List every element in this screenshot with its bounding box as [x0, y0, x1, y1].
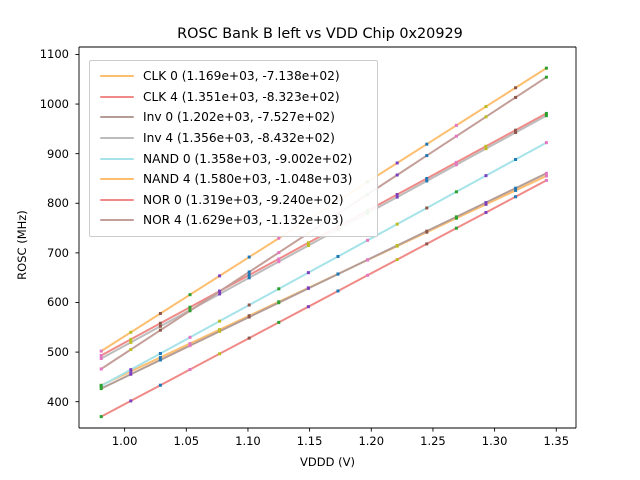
x-tick-label: 1.35 [526, 434, 586, 448]
data-point-marker [307, 244, 310, 247]
data-point-marker [455, 135, 458, 138]
data-point-marker [366, 274, 369, 277]
y-tick-label: 800 [27, 196, 69, 210]
data-point-marker [277, 260, 280, 263]
data-point-marker [188, 309, 191, 312]
data-point-marker [514, 158, 517, 161]
data-point-marker [248, 256, 251, 259]
data-point-marker [100, 387, 103, 390]
data-point-marker [277, 237, 280, 240]
legend-color-swatch [100, 96, 134, 98]
legend-item[interactable]: NOR 0 (1.319e+03, -9.240e+02) [96, 190, 371, 211]
data-point-marker [396, 223, 399, 226]
data-point-marker [100, 415, 103, 418]
legend-item[interactable]: CLK 0 (1.169e+03, -7.138e+02) [96, 66, 371, 87]
data-point-marker [366, 258, 369, 261]
legend-item[interactable]: Inv 4 (1.356e+03, -8.432e+02) [96, 128, 371, 149]
data-point-marker [248, 274, 251, 277]
data-point-marker [545, 179, 548, 182]
data-point-marker [484, 147, 487, 150]
data-point-marker [188, 368, 191, 371]
data-point-marker [248, 337, 251, 340]
y-tick-label: 600 [27, 295, 69, 309]
data-point-marker [514, 86, 517, 89]
legend-color-swatch [100, 199, 134, 201]
legend-color-swatch [100, 137, 134, 139]
legend-item-label: NAND 4 (1.580e+03, -1.048e+03) [143, 173, 352, 185]
data-point-marker [188, 336, 191, 339]
data-point-marker [129, 373, 132, 376]
data-point-marker [218, 330, 221, 333]
data-point-marker [129, 338, 132, 341]
y-tick-label: 700 [27, 246, 69, 260]
data-point-marker [484, 174, 487, 177]
data-point-marker [336, 273, 339, 276]
data-point-marker [425, 179, 428, 182]
data-point-marker [545, 141, 548, 144]
data-point-marker [455, 124, 458, 127]
data-point-marker [396, 196, 399, 199]
data-point-marker [396, 173, 399, 176]
data-point-marker [336, 255, 339, 258]
x-tick-label: 1.05 [156, 434, 216, 448]
legend-color-swatch [100, 219, 134, 221]
legend-color-swatch [100, 116, 134, 118]
data-point-marker [129, 399, 132, 402]
data-point-marker [545, 114, 548, 117]
data-point-marker [396, 161, 399, 164]
data-point-marker [188, 344, 191, 347]
data-point-marker [218, 352, 221, 355]
legend-color-swatch [100, 178, 134, 180]
data-point-marker [425, 206, 428, 209]
data-point-marker [455, 215, 458, 218]
data-point-marker [396, 244, 399, 247]
data-point-marker [455, 227, 458, 230]
data-point-marker [277, 251, 280, 254]
data-point-marker [396, 258, 399, 261]
data-point-marker [277, 301, 280, 304]
data-point-marker [545, 172, 548, 175]
legend-item-label: Inv 4 (1.356e+03, -8.432e+02) [143, 132, 335, 144]
data-point-marker [484, 201, 487, 204]
data-point-marker [545, 76, 548, 79]
data-point-marker [159, 384, 162, 387]
data-point-marker [188, 306, 191, 309]
data-point-marker [218, 274, 221, 277]
y-tick-label: 900 [27, 147, 69, 161]
legend-item[interactable]: Inv 0 (1.202e+03, -7.527e+02) [96, 107, 371, 128]
y-tick-label: 500 [27, 345, 69, 359]
data-point-marker [159, 329, 162, 332]
data-point-marker [514, 96, 517, 99]
legend-item-label: NOR 0 (1.319e+03, -9.240e+02) [143, 194, 344, 206]
x-tick-label: 1.25 [403, 434, 463, 448]
data-point-marker [159, 325, 162, 328]
legend-item-label: NAND 0 (1.358e+03, -9.002e+02) [143, 153, 352, 165]
x-tick-label: 1.30 [465, 434, 525, 448]
data-point-marker [514, 131, 517, 134]
chart-legend: CLK 0 (1.169e+03, -7.138e+02)CLK 4 (1.35… [89, 60, 378, 237]
data-point-marker [425, 154, 428, 157]
legend-item[interactable]: NAND 4 (1.580e+03, -1.048e+03) [96, 169, 371, 190]
data-point-marker [100, 350, 103, 353]
data-point-marker [159, 352, 162, 355]
legend-color-swatch [100, 158, 134, 160]
data-point-marker [484, 115, 487, 118]
data-point-marker [100, 357, 103, 360]
x-tick-label: 1.20 [341, 434, 401, 448]
data-point-marker [188, 293, 191, 296]
data-point-marker [307, 287, 310, 290]
data-point-marker [545, 67, 548, 70]
data-point-marker [484, 105, 487, 108]
data-point-marker [336, 289, 339, 292]
data-point-marker [100, 354, 103, 357]
legend-item-label: CLK 4 (1.351e+03, -8.323e+02) [143, 91, 340, 103]
x-tick-label: 1.15 [280, 434, 340, 448]
y-tick-label: 1100 [27, 47, 69, 61]
data-point-marker [218, 320, 221, 323]
data-point-marker [129, 341, 132, 344]
x-tick-label: 1.00 [95, 434, 155, 448]
data-point-marker [159, 312, 162, 315]
data-point-marker [100, 367, 103, 370]
y-tick-label: 400 [27, 395, 69, 409]
data-point-marker [514, 195, 517, 198]
data-point-marker [129, 348, 132, 351]
data-point-marker [218, 290, 221, 293]
data-point-marker [100, 384, 103, 387]
data-point-marker [159, 322, 162, 325]
legend-color-swatch [100, 75, 134, 77]
legend-item-label: CLK 0 (1.169e+03, -7.138e+02) [143, 70, 340, 82]
data-point-marker [129, 368, 132, 371]
data-point-marker [129, 331, 132, 334]
data-point-marker [425, 143, 428, 146]
data-point-marker [248, 270, 251, 273]
legend-item-label: NOR 4 (1.629e+03, -1.132e+03) [143, 214, 344, 226]
data-point-marker [455, 163, 458, 166]
legend-item[interactable]: NOR 4 (1.629e+03, -1.132e+03) [96, 210, 371, 231]
data-point-marker [248, 276, 251, 279]
data-point-marker [425, 230, 428, 233]
data-point-marker [307, 305, 310, 308]
data-point-marker [307, 271, 310, 274]
data-point-marker [277, 287, 280, 290]
legend-item[interactable]: NAND 0 (1.358e+03, -9.002e+02) [96, 148, 371, 169]
data-point-marker [484, 211, 487, 214]
figure-canvas: ROSC Bank B left vs VDD Chip 0x20929 ROS… [0, 0, 640, 480]
data-point-marker [277, 321, 280, 324]
data-point-marker [425, 242, 428, 245]
x-tick-label: 1.10 [218, 434, 278, 448]
y-tick-label: 1000 [27, 97, 69, 111]
data-point-marker [366, 239, 369, 242]
legend-item-label: Inv 0 (1.202e+03, -7.527e+02) [143, 111, 335, 123]
data-point-marker [248, 316, 251, 319]
legend-item[interactable]: CLK 4 (1.351e+03, -8.323e+02) [96, 87, 371, 108]
data-point-marker [159, 358, 162, 361]
data-point-marker [455, 190, 458, 193]
data-point-marker [248, 303, 251, 306]
data-point-marker [514, 187, 517, 190]
